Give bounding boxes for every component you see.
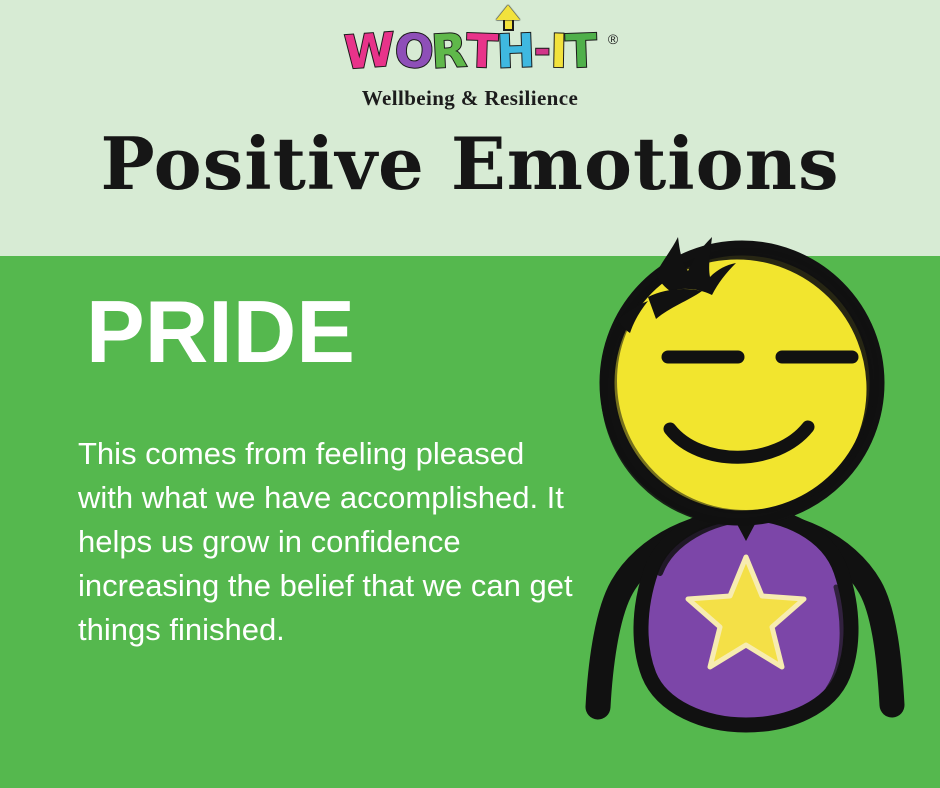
logo-letter-i: I	[549, 28, 566, 74]
poster-canvas: WORTH-IT ® Wellbeing & Resilience Positi…	[0, 0, 940, 788]
logo-letter-t-second: T	[564, 27, 596, 74]
character-head	[604, 248, 877, 522]
logo-letter-r: R	[430, 27, 467, 75]
logo-letter-h: H	[495, 27, 534, 74]
page-title: Positive Emotions	[0, 128, 940, 200]
smiling-character-illustration	[560, 215, 940, 745]
brand-logo: WORTH-IT ® Wellbeing & Resilience	[0, 28, 940, 111]
emotion-name: PRIDE	[86, 288, 355, 376]
registered-trademark-icon: ®	[608, 32, 617, 46]
logo-letter-o: O	[393, 27, 433, 75]
brand-tagline: Wellbeing & Resilience	[0, 86, 940, 111]
emotion-description: This comes from feeling pleased with wha…	[78, 432, 578, 652]
logo-letter-t-first: T	[466, 27, 498, 74]
logo-letter-w: W	[343, 26, 393, 76]
logo-wordmark: WORTH-IT ®	[344, 28, 596, 74]
logo-letter-hyphen: -	[534, 30, 550, 70]
